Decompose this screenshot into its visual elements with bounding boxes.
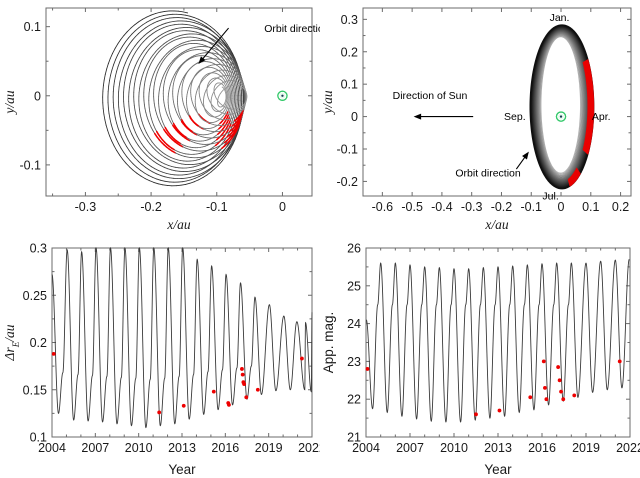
svg-text:-0.4: -0.4 <box>431 200 453 214</box>
y-axis-label: y/au <box>2 90 17 115</box>
svg-text:0.1: 0.1 <box>24 20 41 34</box>
svg-text:0.1: 0.1 <box>341 78 358 92</box>
svg-text:2016: 2016 <box>211 441 239 455</box>
svg-text:0.3: 0.3 <box>341 13 358 27</box>
svg-text:26: 26 <box>347 242 361 256</box>
svg-text:0.2: 0.2 <box>341 45 358 59</box>
svg-text:21: 21 <box>347 431 361 445</box>
svg-text:0.1: 0.1 <box>30 431 47 445</box>
svg-text:2022: 2022 <box>298 441 320 455</box>
svg-text:-0.5: -0.5 <box>401 200 423 214</box>
time-series-trace <box>52 248 312 428</box>
svg-text:0.3: 0.3 <box>30 242 47 256</box>
svg-text:2019: 2019 <box>572 441 600 455</box>
figure-canvas: -0.3-0.2-0.10-0.100.1Orbit directionx/au… <box>0 0 640 478</box>
month-label-apr: Apr. <box>592 111 611 123</box>
orbit-direction-arrow <box>516 152 529 170</box>
svg-text:2007: 2007 <box>81 441 109 455</box>
panel-apparent-magnitude: 2004200720102013201620192022212223242526… <box>320 238 640 478</box>
svg-text:0: 0 <box>279 200 286 214</box>
plot-frame <box>366 248 630 437</box>
panel-geocentric-orbit: -0.6-0.5-0.4-0.3-0.2-0.100.10.2-0.2-0.10… <box>320 0 640 238</box>
y-axis-label: y/au <box>320 90 335 115</box>
svg-text:2013: 2013 <box>168 441 196 455</box>
svg-text:0.25: 0.25 <box>23 289 47 303</box>
svg-text:2022: 2022 <box>616 441 640 455</box>
svg-text:2019: 2019 <box>255 441 283 455</box>
svg-text:2013: 2013 <box>484 441 512 455</box>
svg-text:-0.6: -0.6 <box>372 200 394 214</box>
geocentric-orbit-trace <box>530 25 593 188</box>
y-axis-label: App. mag. <box>321 312 336 374</box>
time-series-trace <box>366 259 629 422</box>
svg-text:-0.1: -0.1 <box>336 143 358 157</box>
x-axis-label: x/au <box>484 217 508 232</box>
panel-earth-distance: 20042007201020132016201920220.10.150.20.… <box>0 238 320 478</box>
svg-text:-0.3: -0.3 <box>75 200 97 214</box>
x-axis-label: Year <box>168 462 196 477</box>
svg-text:-0.1: -0.1 <box>520 200 542 214</box>
y-axis-label: ΔrE/au <box>2 324 21 361</box>
svg-text:-0.2: -0.2 <box>140 200 162 214</box>
direction-of-sun-label: Direction of Sun <box>393 90 468 102</box>
svg-text:2007: 2007 <box>396 441 424 455</box>
svg-text:2010: 2010 <box>125 441 153 455</box>
svg-text:2010: 2010 <box>440 441 468 455</box>
svg-text:24: 24 <box>347 317 361 331</box>
panel-heliocentric-orbit: -0.3-0.2-0.10-0.100.1Orbit directionx/au… <box>0 0 320 238</box>
svg-text:-0.3: -0.3 <box>461 200 483 214</box>
axis-ticks: 20042007201020132016201920220.10.150.20.… <box>23 242 320 456</box>
sun-symbol-icon <box>278 91 287 100</box>
direction-of-sun-arrow <box>414 114 474 120</box>
month-label-jan: Jan. <box>550 12 570 24</box>
svg-text:0.2: 0.2 <box>612 200 629 214</box>
svg-text:0: 0 <box>34 89 41 103</box>
svg-text:25: 25 <box>347 279 361 293</box>
svg-text:-0.2: -0.2 <box>336 175 358 189</box>
svg-text:0.1: 0.1 <box>582 200 599 214</box>
svg-text:-0.1: -0.1 <box>19 158 41 172</box>
spiral-orbit-trace <box>103 11 247 186</box>
svg-text:2016: 2016 <box>528 441 556 455</box>
x-axis-label: x/au <box>166 217 190 232</box>
svg-text:23: 23 <box>347 355 361 369</box>
orbit-direction-label: Orbit direction <box>264 23 320 35</box>
svg-text:0.15: 0.15 <box>23 383 47 397</box>
month-label-jul: Jul. <box>542 191 558 203</box>
svg-text:0: 0 <box>351 110 358 124</box>
svg-text:-0.2: -0.2 <box>491 200 513 214</box>
sun-symbol-icon <box>556 112 565 121</box>
svg-text:22: 22 <box>347 393 361 407</box>
x-axis-label: Year <box>484 462 512 477</box>
svg-text:ΔrE/au: ΔrE/au <box>2 324 21 361</box>
month-label-sep: Sep. <box>504 111 526 123</box>
svg-text:-0.1: -0.1 <box>206 200 228 214</box>
svg-text:0.2: 0.2 <box>30 336 47 350</box>
orbit-direction-label: Orbit direction <box>455 168 521 180</box>
